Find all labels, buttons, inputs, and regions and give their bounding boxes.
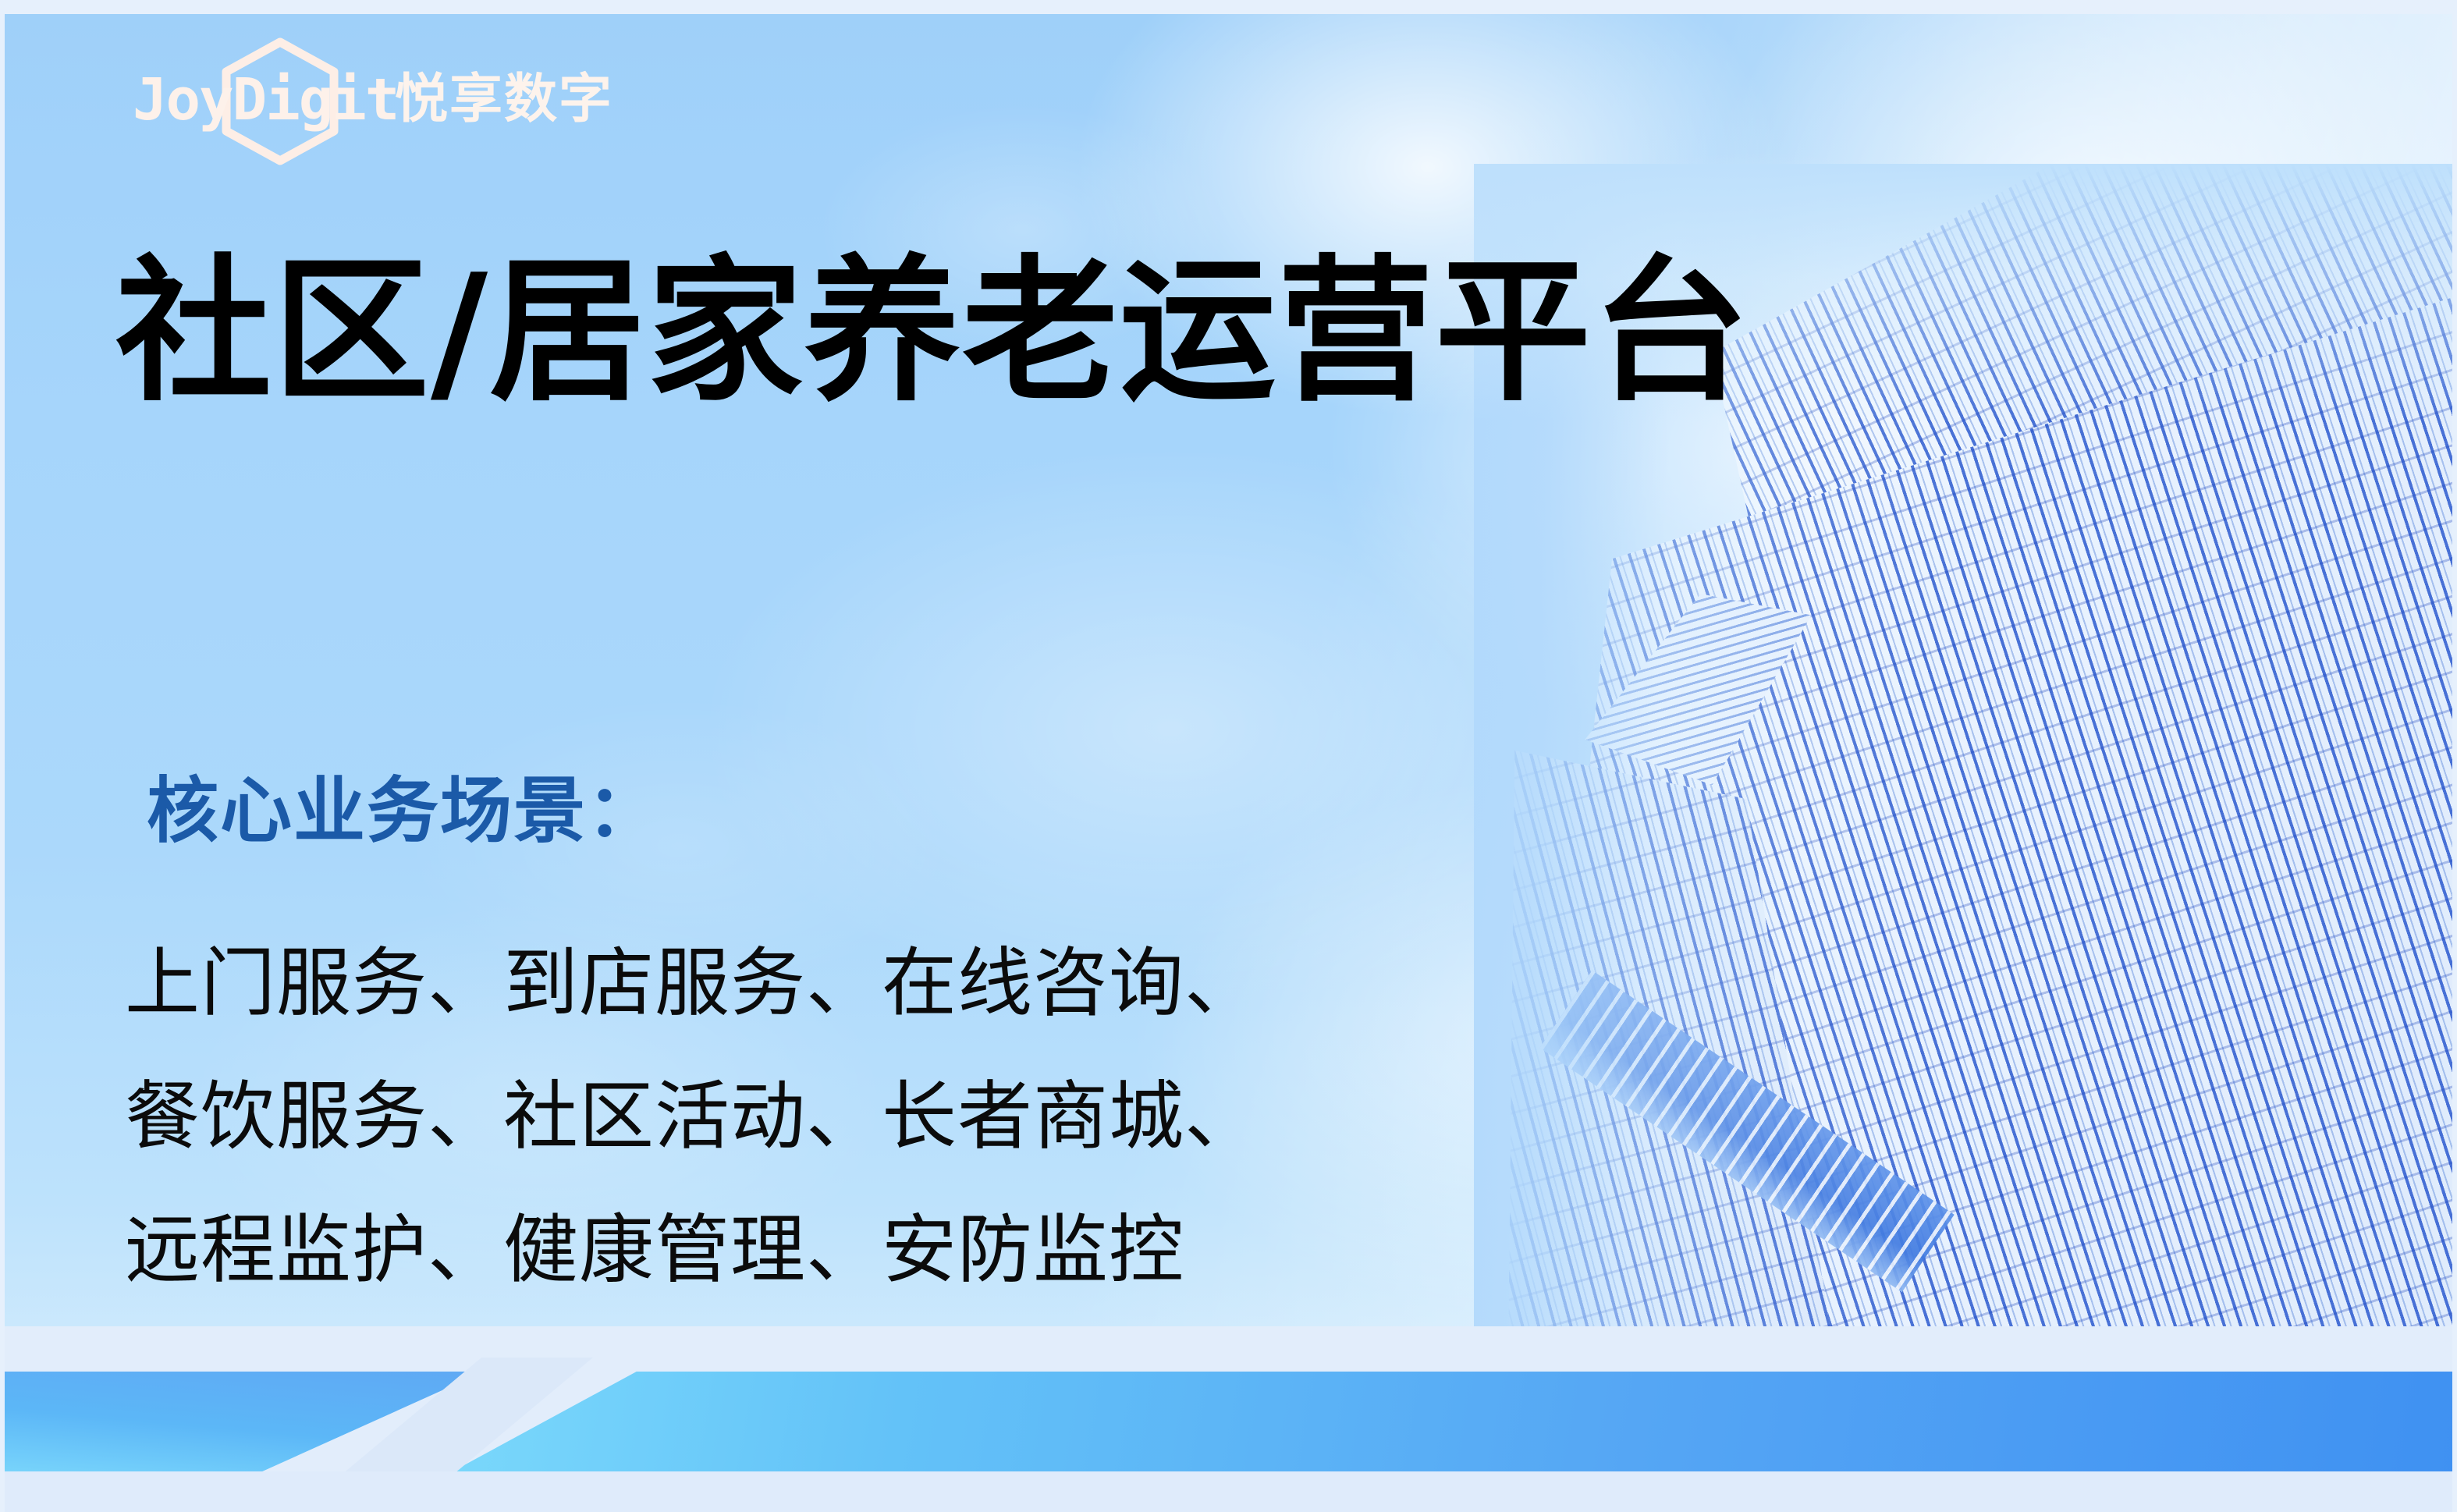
section-subheading: 核心业务场景： [147,768,660,854]
footer-band-right [453,1372,2457,1471]
list-item: 上门服务、到店服务、在线咨询、 [125,917,1260,1050]
logo-chinese-text: 悦享数字 [395,73,613,126]
frame-top-edge [0,0,2457,14]
logo-mark: JoyDigit [133,53,367,147]
frame-left-edge [0,0,5,1512]
list-item: 餐饮服务、社区活动、长者商城、 [125,1050,1260,1184]
list-item: 远程监护、健康管理、安防监控 [125,1184,1260,1317]
logo-latin-text: JoyDigit [133,71,398,129]
business-scenarios-list: 上门服务、到店服务、在线咨询、 餐饮服务、社区活动、长者商城、 远程监护、健康管… [125,917,1260,1317]
frame-right-edge [2452,0,2457,1512]
footer-bottom-strip [0,1471,2457,1512]
brand-logo[interactable]: JoyDigit 悦享数字 [133,53,613,147]
slide-canvas: JoyDigit 悦享数字 社区/居家养老运营平台 核心业务场景： 上门服务、到… [0,0,2457,1512]
footer-decoration [0,1326,2457,1512]
page-title: 社区/居家养老运营平台 [115,248,1750,417]
